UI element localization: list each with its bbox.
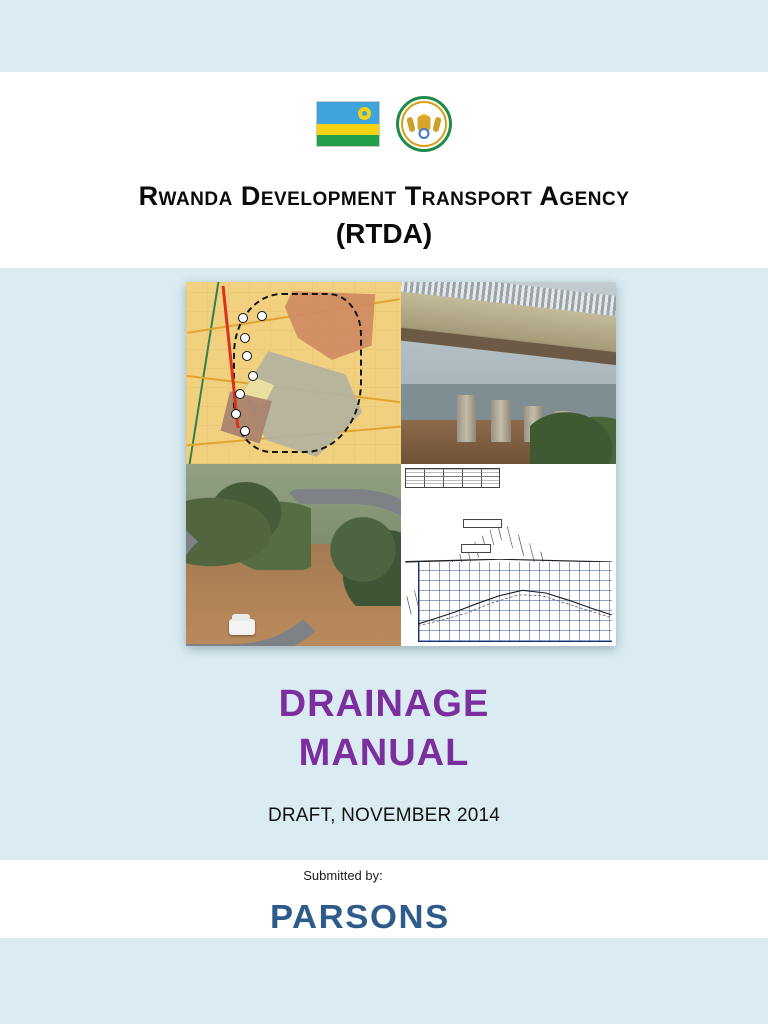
parsons-logo: PARSONS — [0, 898, 768, 936]
document-cover-page: Rwanda Development Transport Agency (RTD… — [0, 0, 768, 1024]
rwanda-coat-of-arms-icon — [396, 96, 452, 152]
submitted-by-label: Submitted by: — [0, 868, 768, 883]
flag-green-stripe — [317, 135, 379, 146]
drawing-callout-note — [463, 519, 502, 528]
bridge-photo-image — [401, 282, 616, 464]
flag-sun-icon — [359, 108, 370, 119]
map-marker — [238, 313, 248, 323]
map-marker — [257, 311, 267, 321]
drawing-title-block-table — [405, 468, 500, 488]
engineering-plan-profile-drawing-image — [401, 464, 616, 646]
cover-image-collage — [186, 282, 616, 646]
rwanda-flag-icon — [316, 101, 380, 147]
drawing-callout-note — [461, 544, 491, 553]
bridge-pier — [491, 400, 510, 442]
agency-abbreviation: (RTDA) — [0, 218, 768, 250]
map-marker — [240, 426, 250, 436]
road-white-vehicle — [229, 619, 255, 635]
drawing-grade-line — [418, 573, 612, 628]
draft-date: DRAFT, NOVEMBER 2014 — [0, 805, 768, 827]
manual-title: DRAINAGE MANUAL — [0, 680, 768, 777]
manual-title-line-1: DRAINAGE — [0, 680, 768, 729]
crest-row — [0, 96, 768, 152]
manual-title-line-2: MANUAL — [0, 729, 768, 778]
bridge-vegetation — [530, 406, 616, 464]
rural-road-photo-image — [186, 464, 401, 646]
topographic-map-image — [186, 282, 401, 464]
map-marker — [240, 333, 250, 343]
top-blue-band — [0, 0, 768, 72]
emblem-motif — [408, 110, 440, 140]
flag-yellow-stripe — [317, 124, 379, 135]
map-marker — [242, 351, 252, 361]
road-asphalt-lower — [186, 504, 345, 646]
emblem-gear-icon — [419, 128, 430, 139]
bridge-pier — [457, 395, 476, 442]
bottom-blue-band — [0, 938, 768, 1024]
grade-line-svg — [418, 573, 612, 628]
agency-name: Rwanda Development Transport Agency — [0, 182, 768, 210]
